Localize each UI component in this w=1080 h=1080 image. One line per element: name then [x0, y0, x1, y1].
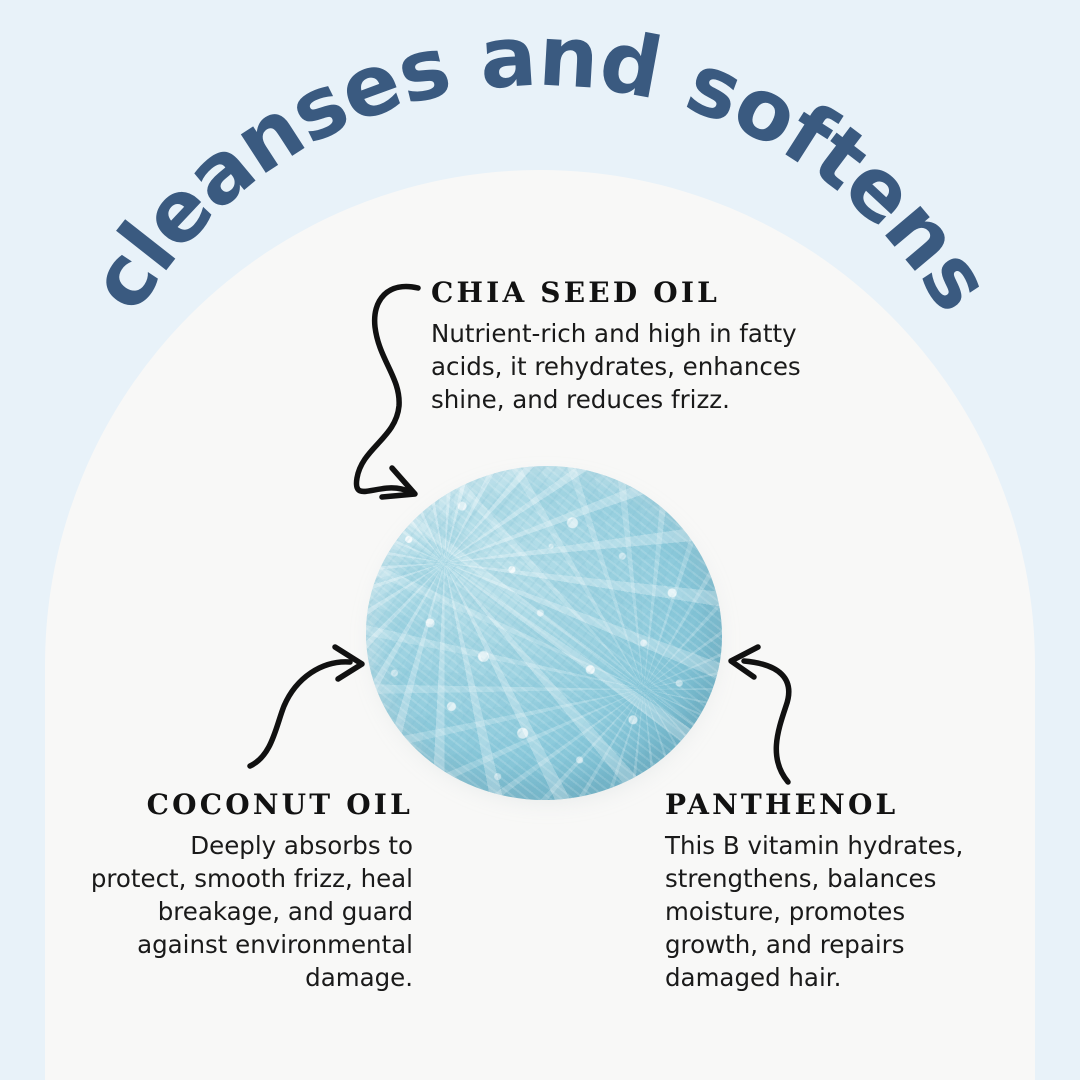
ingredient-title-chia: CHIA SEED OIL — [431, 276, 811, 309]
ingredient-body-chia: Nutrient-rich and high in fatty acids, i… — [431, 317, 811, 416]
ingredient-body-coconut: Deeply absorbs to protect, smooth frizz,… — [88, 829, 413, 994]
infographic-canvas: cleanses and softens — [0, 0, 1080, 1080]
ingredient-chia-seed-oil: CHIA SEED OIL Nutrient-rich and high in … — [431, 276, 811, 416]
ingredient-coconut-oil: COCONUT OIL Deeply absorbs to protect, s… — [88, 788, 413, 994]
curved-arrow-down-right-icon — [356, 287, 418, 497]
curved-arrow-up-left-icon — [731, 647, 789, 782]
curved-arrow-up-right-icon — [250, 647, 362, 766]
ingredient-title-coconut: COCONUT OIL — [88, 788, 413, 821]
ingredient-body-panthenol: This B vitamin hydrates, strengthens, ba… — [665, 829, 995, 994]
ingredient-panthenol: PANTHENOL This B vitamin hydrates, stren… — [665, 788, 995, 994]
ingredient-title-panthenol: PANTHENOL — [665, 788, 995, 821]
